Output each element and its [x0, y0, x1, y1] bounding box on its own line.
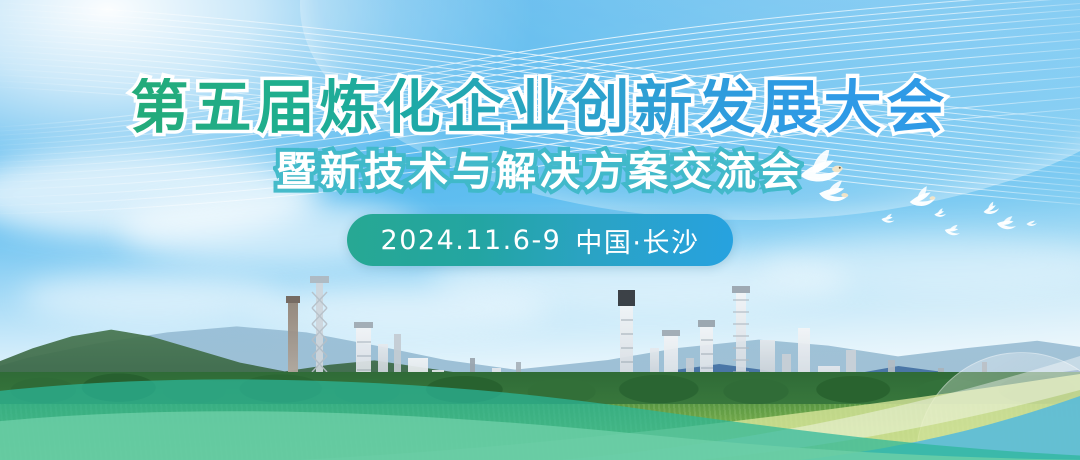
location-text: 中国·长沙 [575, 221, 699, 260]
subtitle-wrap: 暨新技术与解决方案交流会 暨新技术与解决方案交流会 [0, 152, 1080, 192]
subtitle: 暨新技术与解决方案交流会 [0, 152, 1080, 192]
banner-content: 第五届炼化企业创新发展大会 第五届炼化企业创新发展大会 暨新技术与解决方案交流会… [0, 0, 1080, 460]
main-title-wrap: 第五届炼化企业创新发展大会 第五届炼化企业创新发展大会 [0, 0, 1080, 136]
date-location-badge: 2024.11.6-9 中国·长沙 [347, 214, 734, 266]
conference-banner: 第五届炼化企业创新发展大会 第五届炼化企业创新发展大会 暨新技术与解决方案交流会… [0, 0, 1080, 460]
page-title: 第五届炼化企业创新发展大会 [0, 78, 1080, 136]
date-text: 2024.11.6-9 [381, 225, 562, 256]
